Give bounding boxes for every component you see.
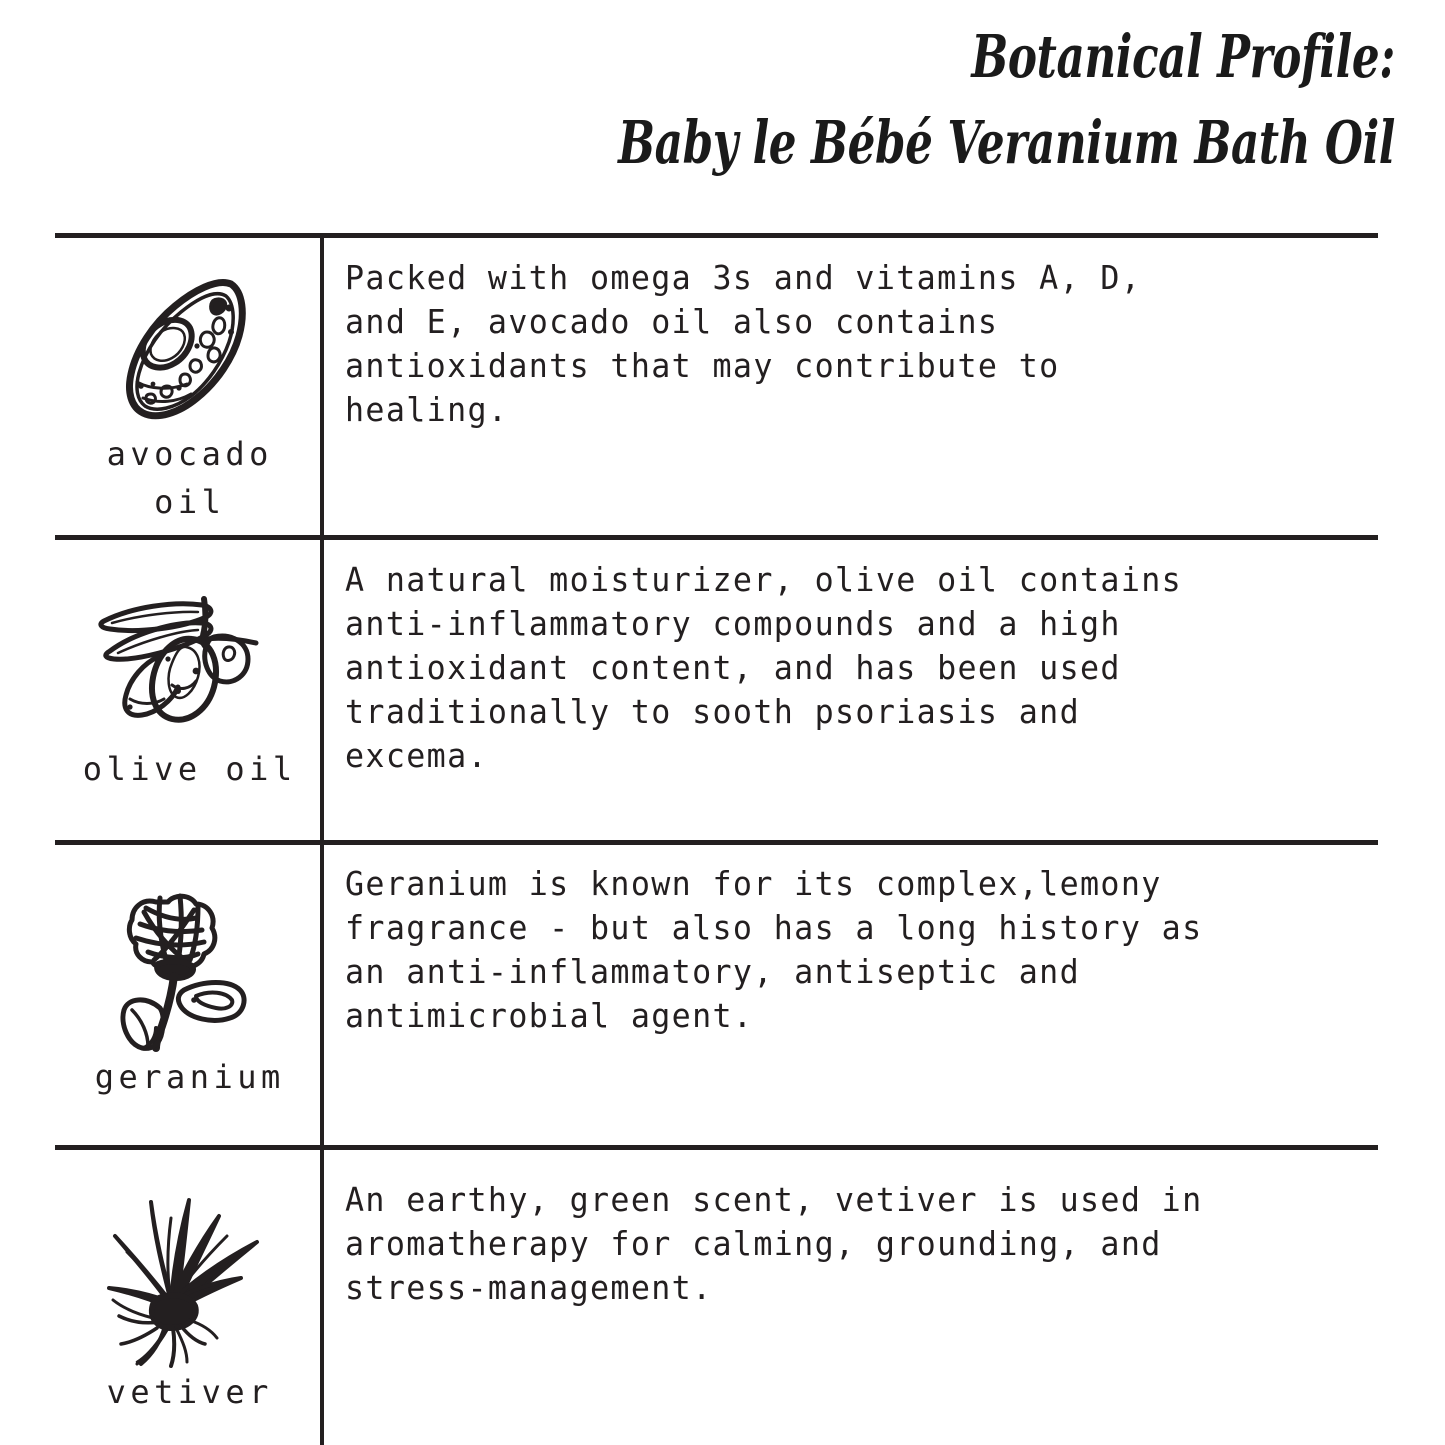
ingredient-label: avocado [55,430,320,478]
ingredient-cell-olive: olive oil [55,585,320,793]
ingredient-cell-avocado: avocado oil [55,270,320,526]
ingredient-label: vetiver [55,1368,320,1416]
geranium-icon [98,868,278,1053]
ingredient-description: Geranium is known for its complex,lemony… [345,862,1343,1038]
ingredient-label: olive oil [55,745,320,793]
page-title-line-2: Baby le Bébé Veranium Bath Oil [363,100,1395,186]
ingredient-description: An earthy, green scent, vetiver is used … [345,1178,1343,1310]
page-title-line-1: Botanical Profile: [363,14,1395,100]
table-column-divider [320,233,324,1445]
ingredient-label: geranium [55,1053,320,1101]
page-title: Botanical Profile: Baby le Bébé Veranium… [363,14,1395,186]
avocado-icon [93,270,283,430]
ingredient-cell-vetiver: vetiver [55,1178,320,1416]
table-row-divider-2 [55,840,1378,845]
ingredient-label-line2: oil [55,478,320,526]
table-row-divider-1 [55,535,1378,540]
ingredient-cell-geranium: geranium [55,868,320,1101]
table-top-rule [55,233,1378,238]
table-row-divider-3 [55,1145,1378,1150]
botanical-profile-page: Botanical Profile: Baby le Bébé Veranium… [0,0,1445,1445]
olive-icon [88,585,288,745]
ingredient-description: Packed with omega 3s and vitamins A, D, … [345,256,1343,432]
ingredient-description: A natural moisturizer, olive oil contain… [345,558,1343,778]
vetiver-icon [93,1178,283,1368]
